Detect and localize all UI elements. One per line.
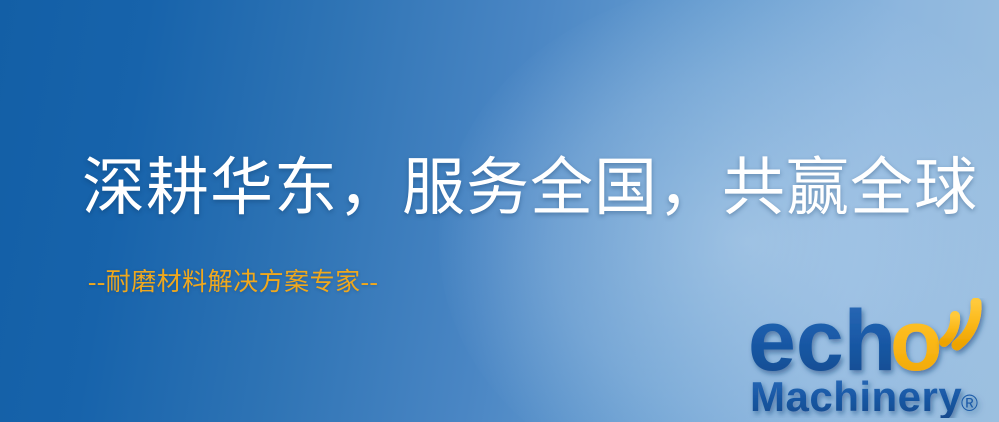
echo-machinery-logo: ech o Machinery ® <box>748 298 996 418</box>
registered-trademark-icon: ® <box>961 390 978 416</box>
banner-subheadline: --耐磨材料解决方案专家-- <box>88 267 378 299</box>
logo-tagline-text: Machinery <box>750 373 962 418</box>
logo-tagline: Machinery ® <box>750 373 978 418</box>
hero-banner: 深耕华东，服务全国，共赢全球 --耐磨材料解决方案专家-- <box>0 0 999 422</box>
signal-arcs-icon <box>944 303 976 345</box>
banner-headline: 深耕华东，服务全国，共赢全球 <box>82 150 978 226</box>
